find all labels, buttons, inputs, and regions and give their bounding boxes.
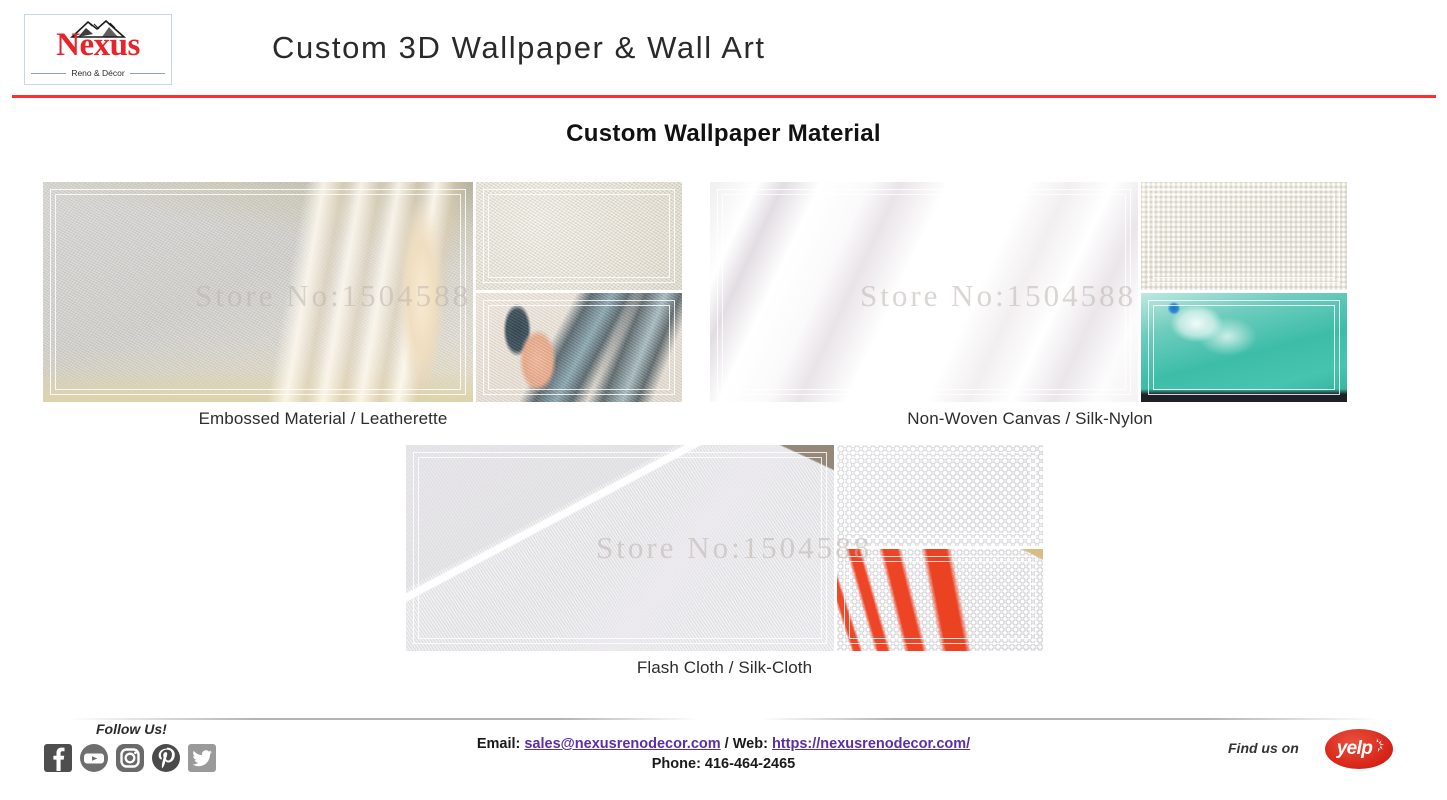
embossed-texture-thumb[interactable] — [476, 182, 682, 290]
footer-divider-left — [68, 718, 698, 720]
page-header: Nexus Reno & Décor Custom 3D Wallpaper &… — [0, 0, 1447, 98]
embossed-thumb-stack — [476, 182, 682, 402]
email-label: Email: — [477, 736, 521, 752]
panel-image-group: Store No:1504588 — [710, 182, 1350, 402]
web-label: Web: — [733, 736, 768, 752]
panel-image-group: Store No:1504588 — [406, 445, 1043, 651]
panel-caption: Embossed Material / Leatherette — [43, 409, 603, 429]
nonwoven-thumb-stack — [1141, 182, 1347, 402]
logo-rule-left — [31, 73, 66, 74]
flashcloth-thumb-stack — [837, 445, 1043, 651]
embossed-mural-thumb[interactable] — [476, 293, 682, 402]
material-panel-nonwoven: Store No:1504588 Non-Woven Canvas / Silk… — [710, 182, 1350, 429]
website-link[interactable]: https://nexusrenodecor.com/ — [772, 736, 970, 752]
nonwoven-main-image[interactable] — [710, 182, 1138, 402]
logo-tagline: Reno & Décor — [71, 68, 124, 78]
material-panel-flashcloth: Store No:1504588 Flash Cloth / Silk-Clot… — [406, 445, 1043, 678]
header-divider — [12, 95, 1436, 98]
phone-text: Phone: 416-464-2465 — [0, 754, 1447, 774]
flashcloth-weave-thumb[interactable] — [837, 445, 1043, 546]
contact-separator: / — [725, 736, 729, 752]
email-link[interactable]: sales@nexusrenodecor.com — [524, 736, 720, 752]
flashcloth-redstripe-thumb[interactable] — [837, 549, 1043, 651]
yelp-burst-icon — [1369, 737, 1386, 754]
footer-divider-right — [760, 718, 1380, 720]
nonwoven-floral-thumb[interactable] — [1141, 293, 1347, 402]
embossed-main-image[interactable] — [43, 182, 473, 402]
yelp-badge[interactable]: yelp — [1325, 729, 1393, 769]
material-panel-embossed: Store No:1504588 Embossed Material / Lea… — [43, 182, 682, 429]
company-logo[interactable]: Nexus Reno & Décor — [24, 14, 172, 85]
page-title: Custom 3D Wallpaper & Wall Art — [272, 30, 766, 66]
section-title: Custom Wallpaper Material — [0, 120, 1447, 148]
panel-caption: Non-Woven Canvas / Silk-Nylon — [710, 409, 1350, 429]
logo-wordmark: Nexus — [25, 27, 171, 63]
flashcloth-main-image[interactable] — [406, 445, 834, 651]
panel-caption: Flash Cloth / Silk-Cloth — [406, 658, 1043, 678]
logo-rule-right — [130, 73, 165, 74]
panel-image-group: Store No:1504588 — [43, 182, 682, 402]
logo-tagline-row: Reno & Décor — [31, 68, 165, 78]
nonwoven-texture-thumb[interactable] — [1141, 182, 1347, 290]
yelp-wordmark: yelp — [1337, 738, 1373, 760]
find-us-on-label: Find us on — [1228, 740, 1299, 756]
